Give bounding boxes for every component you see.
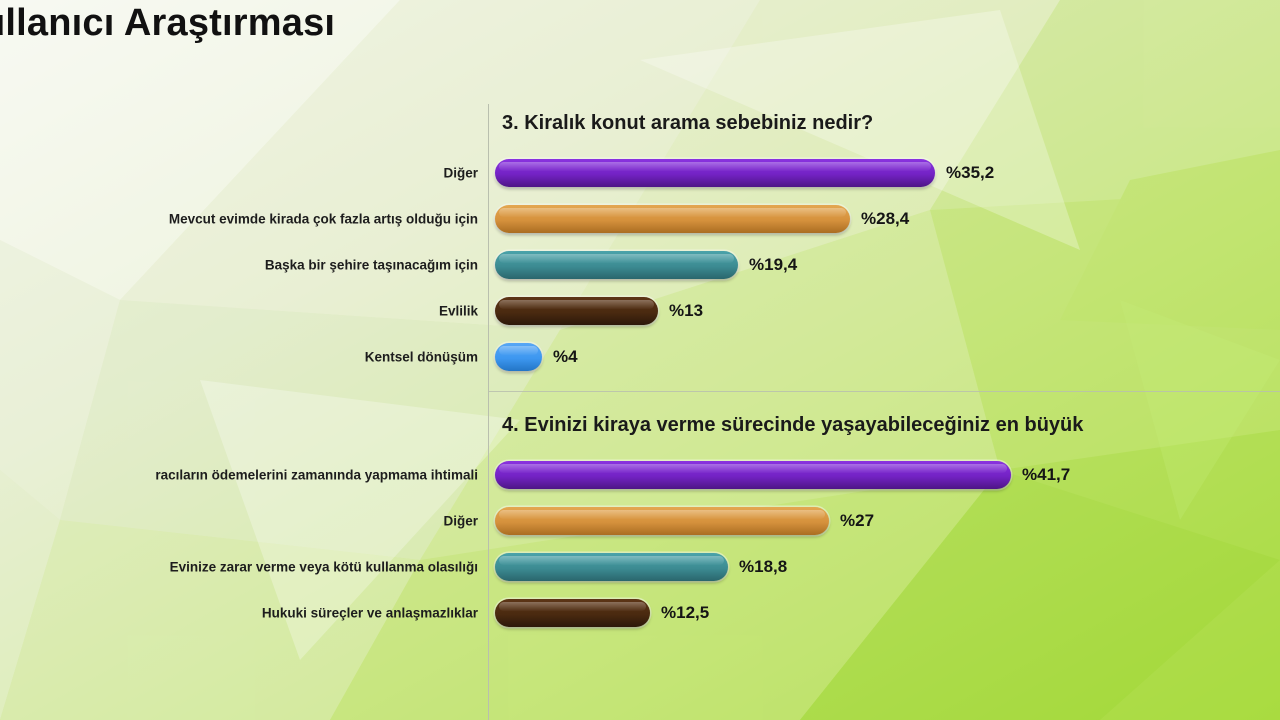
chart-3-bar-group-0: %35,2 [495, 159, 994, 187]
chart-4-value-1: %27 [840, 511, 874, 531]
chart-4-label-0: racıların ödemelerini zamanında yapmama … [155, 468, 478, 483]
chart-4-bar-group-3: %12,5 [495, 599, 709, 627]
chart-row[interactable]: Diğer %27 [0, 498, 1280, 544]
chart-row[interactable]: Diğer %35,2 [0, 150, 1280, 196]
chart-3-bar-2[interactable] [495, 251, 738, 279]
chart-3-bar-1[interactable] [495, 205, 850, 233]
chart-3-value-0: %35,2 [946, 163, 994, 183]
chart-separator-line [488, 391, 1280, 392]
chart-3-label-3: Evlilik [439, 304, 478, 319]
chart-3-value-2: %19,4 [749, 255, 797, 275]
chart-4-label-2: Evinize zarar verme veya kötü kullanma o… [170, 560, 478, 575]
chart-3-title: 3. Kiralık konut arama sebebiniz nedir? [502, 112, 873, 135]
chart-3-bar-group-3: %13 [495, 297, 703, 325]
chart-row[interactable]: Evlilik %13 [0, 288, 1280, 334]
chart-3-label-2: Başka bir şehire taşınacağım için [265, 258, 478, 273]
chart-3-value-3: %13 [669, 301, 703, 321]
chart-3-label-4: Kentsel dönüşüm [365, 350, 478, 365]
chart-3-bar-group-1: %28,4 [495, 205, 909, 233]
chart-row[interactable]: Başka bir şehire taşınacağım için %19,4 [0, 242, 1280, 288]
chart-4-bar-3[interactable] [495, 599, 650, 627]
chart-3-bar-group-2: %19,4 [495, 251, 797, 279]
chart-4-bar-0[interactable] [495, 461, 1011, 489]
chart-4-bar-group-1: %27 [495, 507, 874, 535]
chart-3-label-0: Diğer [443, 166, 478, 181]
chart-3-rows: Diğer %35,2 Mevcut evimde kirada çok faz… [0, 150, 1280, 380]
chart-3-value-4: %4 [553, 347, 578, 367]
chart-row[interactable]: Mevcut evimde kirada çok fazla artış old… [0, 196, 1280, 242]
chart-4-label-1: Diğer [443, 514, 478, 529]
chart-row[interactable]: Hukuki süreçler ve anlaşmazlıklar %12,5 [0, 590, 1280, 636]
chart-3-bar-group-4: %4 [495, 343, 578, 371]
chart-3-bar-0[interactable] [495, 159, 935, 187]
slide-canvas: ullanıcı Araştırması 3. Kiralık konut ar… [0, 0, 1280, 720]
chart-row[interactable]: Evinize zarar verme veya kötü kullanma o… [0, 544, 1280, 590]
chart-3-bar-3[interactable] [495, 297, 658, 325]
chart-4-value-3: %12,5 [661, 603, 709, 623]
chart-4-label-3: Hukuki süreçler ve anlaşmazlıklar [262, 606, 478, 621]
chart-4-value-2: %18,8 [739, 557, 787, 577]
page-title: ullanıcı Araştırması [0, 2, 335, 45]
chart-4-bar-2[interactable] [495, 553, 728, 581]
chart-3-bar-4[interactable] [495, 343, 542, 371]
chart-4-bar-1[interactable] [495, 507, 829, 535]
chart-4-value-0: %41,7 [1022, 465, 1070, 485]
chart-4-title: 4. Evinizi kiraya verme sürecinde yaşaya… [502, 414, 1083, 437]
chart-4-bar-group-0: %41,7 [495, 461, 1070, 489]
chart-row[interactable]: racıların ödemelerini zamanında yapmama … [0, 452, 1280, 498]
title-bar: ullanıcı Araştırması [0, 0, 1280, 58]
chart-3-value-1: %28,4 [861, 209, 909, 229]
chart-row[interactable]: Kentsel dönüşüm %4 [0, 334, 1280, 380]
chart-4-bar-group-2: %18,8 [495, 553, 787, 581]
chart-3-label-1: Mevcut evimde kirada çok fazla artış old… [169, 212, 478, 227]
chart-4-rows: racıların ödemelerini zamanında yapmama … [0, 452, 1280, 636]
